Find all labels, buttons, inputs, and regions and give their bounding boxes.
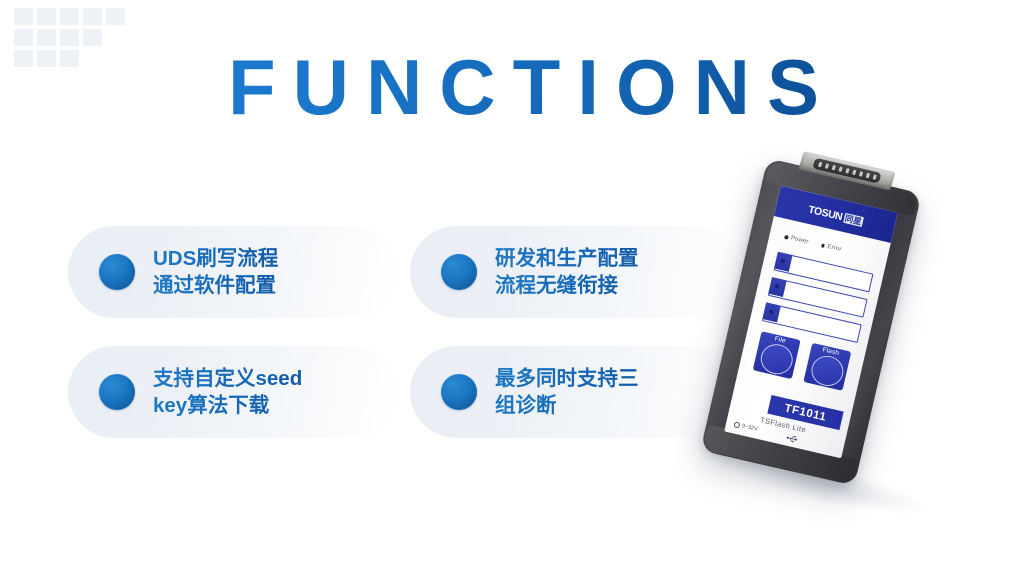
feature-card-uds-flash-process[interactable]: UDS刷写流程 通过软件配置 [68, 226, 398, 318]
button-cap [758, 341, 796, 377]
bullet-icon [99, 374, 135, 410]
brand-name-en: TOSUN [807, 203, 843, 222]
grid-cell [37, 29, 56, 46]
tosun-logo: TOSUN 同星 [807, 203, 864, 227]
feature-card-text: 支持自定义seed key算法下载 [153, 365, 302, 419]
device-front-panel: TOSUN 同星 Power Error [724, 186, 898, 459]
led-label: Power [790, 235, 809, 245]
led-dot-icon [784, 235, 788, 239]
grid-cell [60, 29, 79, 46]
screw-terminal-icon [762, 302, 780, 322]
product-device-image: TOSUN 同星 Power Error [700, 150, 1024, 550]
feature-line-2: 组诊断 [495, 392, 639, 419]
voltage-dot-icon [733, 421, 740, 428]
feature-card-rnd-production-config[interactable]: 研发和生产配置 流程无缝衔接 [410, 226, 740, 318]
led-label: Error [827, 244, 842, 253]
bullet-icon [441, 374, 477, 410]
feature-card-text: UDS刷写流程 通过软件配置 [153, 245, 278, 299]
feature-line-1: 研发和生产配置 [495, 245, 639, 272]
feature-card-text: 研发和生产配置 流程无缝衔接 [495, 245, 639, 299]
bullet-icon [441, 254, 477, 290]
tsflash-lite-device: TOSUN 同星 Power Error [700, 158, 921, 486]
led-indicator-group: Power Error [784, 234, 842, 253]
feature-card-three-group-diagnosis[interactable]: 最多同时支持三 组诊断 [410, 346, 740, 438]
feature-line-2: key算法下载 [153, 392, 302, 419]
led-error: Error [820, 242, 842, 253]
feature-line-2: 通过软件配置 [153, 272, 278, 299]
voltage-label: 9~32V [741, 423, 758, 432]
feature-line-2: 流程无缝衔接 [495, 272, 639, 299]
device-file-button[interactable]: File [753, 331, 801, 379]
device-model-text: TF1011 [783, 402, 827, 423]
usb-icon [786, 434, 801, 445]
feature-card-text: 最多同时支持三 组诊断 [495, 365, 639, 419]
feature-card-custom-seed-key[interactable]: 支持自定义seed key算法下载 [68, 346, 398, 438]
feature-line-1: 支持自定义seed [153, 365, 302, 392]
grid-cell [60, 8, 79, 25]
feature-line-1: 最多同时支持三 [495, 365, 639, 392]
grid-cell [83, 8, 102, 25]
grid-cell [14, 29, 33, 46]
page-title: FUNCTIONS [0, 48, 1024, 126]
bullet-icon [99, 254, 135, 290]
feature-line-1: UDS刷写流程 [153, 245, 278, 272]
grid-cell [83, 29, 102, 46]
screw-terminal-icon [768, 277, 786, 297]
grid-cell [106, 8, 125, 25]
button-cap [808, 353, 846, 389]
screw-terminal-icon [774, 252, 792, 272]
led-power: Power [784, 234, 809, 245]
grid-cell [37, 8, 56, 25]
grid-cell [14, 8, 33, 25]
brand-name-cn: 同星 [843, 212, 864, 226]
led-dot-icon [821, 244, 825, 248]
slide-canvas: FUNCTIONS UDS刷写流程 通过软件配置 研发和生产配置 流程无缝衔接 … [0, 0, 1024, 576]
device-flash-button[interactable]: Flash [803, 343, 851, 391]
